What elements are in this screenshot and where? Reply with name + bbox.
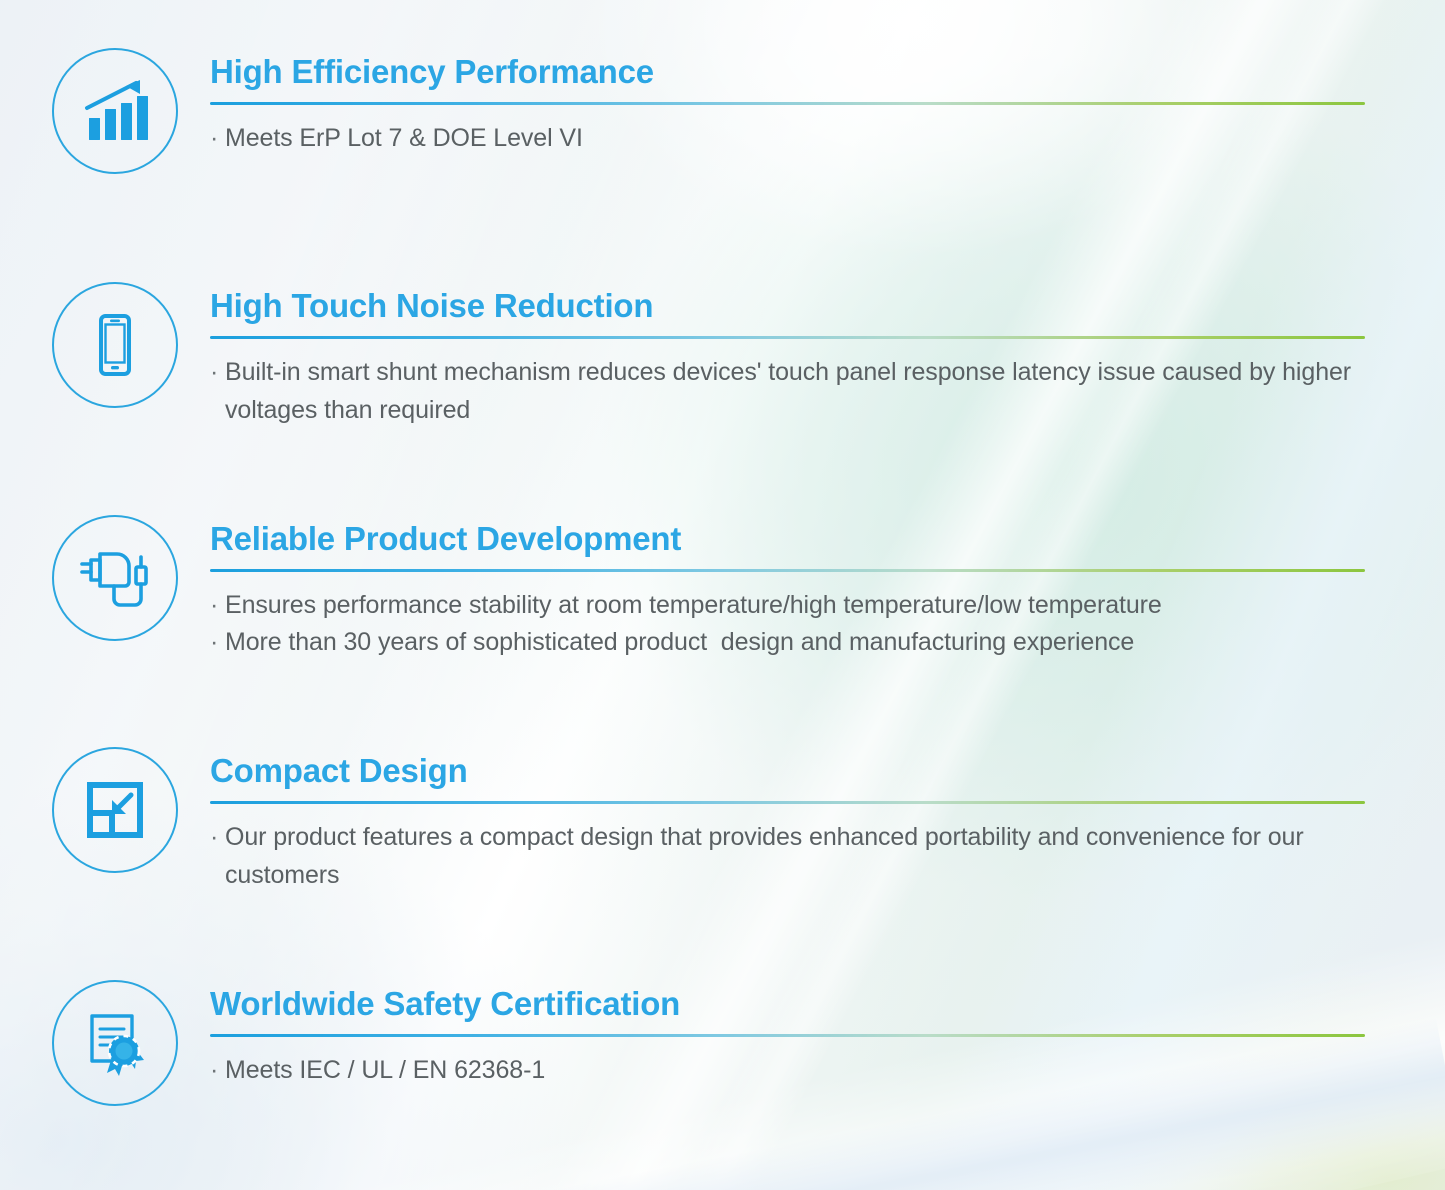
bullet-marker: · (210, 623, 225, 661)
bullet-marker: · (210, 818, 225, 856)
certificate-award-icon (52, 980, 178, 1106)
feature-bullets: · Built-in smart shunt mechanism reduces… (210, 353, 1372, 429)
bullet-item: · Built-in smart shunt mechanism reduces… (210, 353, 1372, 429)
feature-title: Reliable Product Development (210, 521, 1372, 558)
feature-list: High Efficiency Performance · Meets ErP … (0, 0, 1445, 1190)
feature-item: Worldwide Safety Certification · Meets I… (52, 980, 1372, 1106)
bullet-item: · More than 30 years of sophisticated pr… (210, 623, 1372, 661)
bullet-marker: · (210, 353, 225, 391)
feature-divider (210, 102, 1365, 105)
feature-body: High Touch Noise Reduction · Built-in sm… (210, 282, 1372, 429)
bullet-item: · Ensures performance stability at room … (210, 586, 1372, 624)
compact-resize-icon (52, 747, 178, 873)
power-adapter-icon (52, 515, 178, 641)
bullet-text: Meets ErP Lot 7 & DOE Level VI (225, 119, 1372, 157)
feature-body: Worldwide Safety Certification · Meets I… (210, 980, 1372, 1089)
feature-divider (210, 569, 1365, 572)
bullet-marker: · (210, 119, 225, 157)
feature-title: High Touch Noise Reduction (210, 288, 1372, 325)
feature-body: Reliable Product Development · Ensures p… (210, 515, 1372, 661)
bullet-item: · Meets IEC / UL / EN 62368-1 (210, 1051, 1372, 1089)
bullet-marker: · (210, 1051, 225, 1089)
bullet-item: · Our product features a compact design … (210, 818, 1372, 894)
bullet-marker: · (210, 586, 225, 624)
feature-title: High Efficiency Performance (210, 54, 1372, 91)
feature-body: High Efficiency Performance · Meets ErP … (210, 48, 1372, 157)
feature-bullets: · Our product features a compact design … (210, 818, 1372, 894)
feature-item: Compact Design · Our product features a … (52, 747, 1372, 894)
feature-highlights-panel: High Efficiency Performance · Meets ErP … (0, 0, 1445, 1190)
bullet-text: Built-in smart shunt mechanism reduces d… (225, 353, 1372, 429)
feature-item: High Efficiency Performance · Meets ErP … (52, 48, 1372, 174)
feature-divider (210, 336, 1365, 339)
bullet-text: Meets IEC / UL / EN 62368-1 (225, 1051, 1372, 1089)
feature-bullets: · Ensures performance stability at room … (210, 586, 1372, 661)
bullet-text: Ensures performance stability at room te… (225, 586, 1372, 624)
bullet-text: Our product features a compact design th… (225, 818, 1372, 894)
bullet-item: · Meets ErP Lot 7 & DOE Level VI (210, 119, 1372, 157)
smartphone-icon (52, 282, 178, 408)
feature-body: Compact Design · Our product features a … (210, 747, 1372, 894)
feature-item: Reliable Product Development · Ensures p… (52, 515, 1372, 661)
feature-title: Worldwide Safety Certification (210, 986, 1372, 1023)
feature-divider (210, 1034, 1365, 1037)
feature-divider (210, 801, 1365, 804)
bullet-text: More than 30 years of sophisticated prod… (225, 623, 1372, 661)
feature-bullets: · Meets IEC / UL / EN 62368-1 (210, 1051, 1372, 1089)
feature-bullets: · Meets ErP Lot 7 & DOE Level VI (210, 119, 1372, 157)
feature-item: High Touch Noise Reduction · Built-in sm… (52, 282, 1372, 429)
feature-title: Compact Design (210, 753, 1372, 790)
bar-chart-growth-icon (52, 48, 178, 174)
